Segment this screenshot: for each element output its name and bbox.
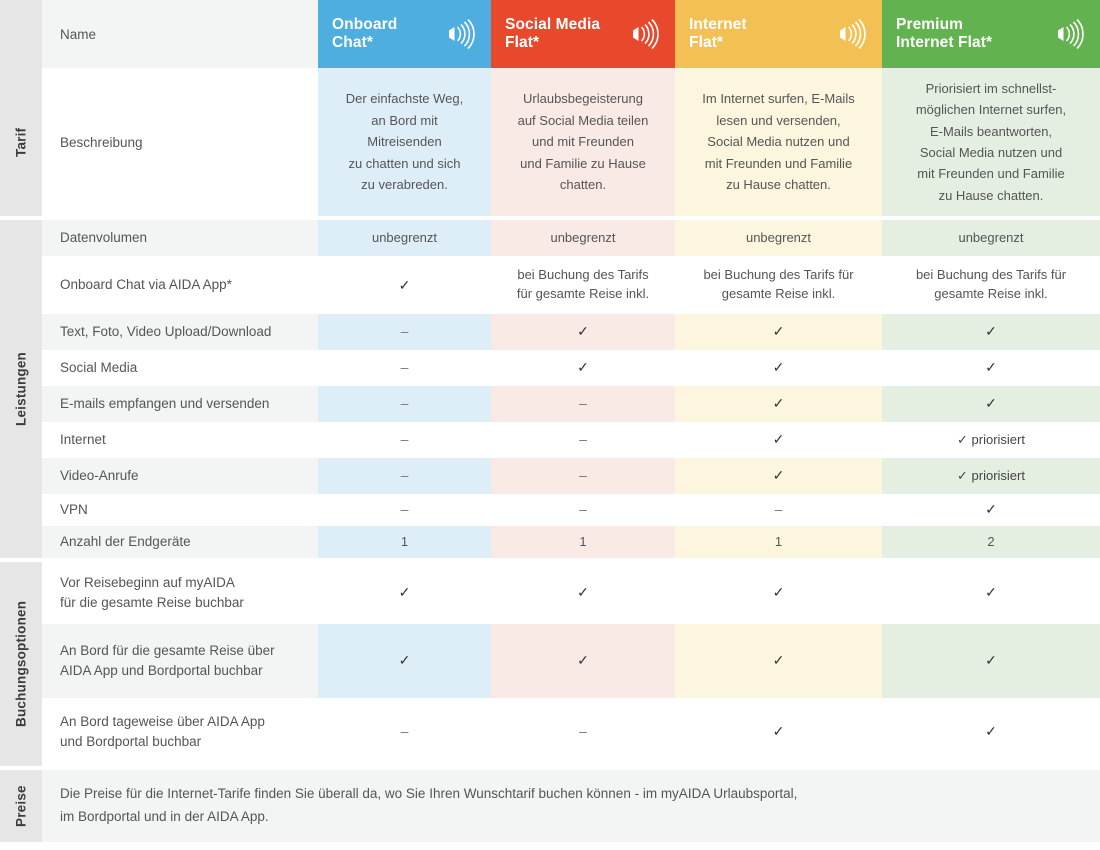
table-row: VPN – – – ✓ [42, 494, 1100, 526]
tariff-header-2[interactable]: Internet Flat* [675, 0, 882, 68]
cell-internet-0: – [318, 422, 491, 458]
cell-vor-reisebeginn-1: ✓ [491, 562, 675, 624]
cell-datenvolumen-0: unbegrenzt [318, 220, 491, 256]
table-row: Anzahl der Endgeräte 1 1 1 2 [42, 526, 1100, 558]
cell-video-anrufe-2: ✓ [675, 458, 882, 494]
buchungsoptionen-section: Buchungsoptionen Vor Reisebeginn auf myA… [0, 562, 1100, 766]
signal-icon [627, 18, 663, 50]
tariff-description-1: Urlaubsbegeisterung auf Social Media tei… [491, 68, 675, 216]
table-row: Text, Foto, Video Upload/Download – ✓ ✓ … [42, 314, 1100, 350]
cell-internet-1: – [491, 422, 675, 458]
cell-social-media-3: ✓ [882, 350, 1100, 386]
cell-onboard-chat-1: bei Buchung des Tarifs für gesamte Reise… [491, 256, 675, 314]
tariff-description-2: Im Internet surfen, E-Mails lesen und ve… [675, 68, 882, 216]
section-label-buchungsoptionen: Buchungsoptionen [0, 562, 42, 766]
cell-an-bord-gesamt-0: ✓ [318, 624, 491, 698]
section-rail-leistungen: Leistungen [0, 220, 42, 558]
table-row: An Bord für die gesamte Reise über AIDA … [42, 624, 1100, 698]
cell-onboard-chat-3: bei Buchung des Tarifs für gesamte Reise… [882, 256, 1100, 314]
leistungen-section: Leistungen Datenvolumen unbegrenzt unbeg… [0, 220, 1100, 558]
tariff-comparison-table: Name Onboard Chat* Social Media Flat* [0, 0, 1100, 850]
section-rail-tarif-label: Tarif [0, 68, 42, 216]
cell-endgeraete-2: 1 [675, 526, 882, 558]
cell-datenvolumen-1: unbegrenzt [491, 220, 675, 256]
section-label-tarif: Tarif [0, 68, 42, 216]
row-label-video-anrufe: Video-Anrufe [42, 458, 318, 494]
cell-internet-3: ✓ priorisiert [882, 422, 1100, 458]
tariff-description-0: Der einfachste Weg, an Bord mit Mitreise… [318, 68, 491, 216]
cell-onboard-chat-0: ✓ [318, 256, 491, 314]
cell-video-anrufe-0: – [318, 458, 491, 494]
section-rail-tarif [0, 0, 42, 68]
cell-upload-0: – [318, 314, 491, 350]
cell-an-bord-tage-0: – [318, 698, 491, 766]
signal-icon [1052, 18, 1088, 50]
tariff-header-1[interactable]: Social Media Flat* [491, 0, 675, 68]
cell-upload-2: ✓ [675, 314, 882, 350]
row-label-vor-reisebeginn: Vor Reisebeginn auf myAIDA für die gesam… [42, 562, 318, 624]
table-row: Onboard Chat via AIDA App* ✓ bei Buchung… [42, 256, 1100, 314]
table-row: Internet – – ✓ ✓ priorisiert [42, 422, 1100, 458]
cell-onboard-chat-2: bei Buchung des Tarifs für gesamte Reise… [675, 256, 882, 314]
table-row: E-mails empfangen und versenden – – ✓ ✓ [42, 386, 1100, 422]
cell-vpn-0: – [318, 494, 491, 526]
cell-emails-1: – [491, 386, 675, 422]
preise-section: Preise Die Preise für die Internet-Tarif… [0, 770, 1100, 842]
cell-an-bord-gesamt-2: ✓ [675, 624, 882, 698]
cell-vor-reisebeginn-3: ✓ [882, 562, 1100, 624]
tariff-header-0[interactable]: Onboard Chat* [318, 0, 491, 68]
tariff-description-3: Priorisiert im schnellst- möglichen Inte… [882, 68, 1100, 216]
cell-emails-0: – [318, 386, 491, 422]
cell-social-media-0: – [318, 350, 491, 386]
cell-endgeraete-0: 1 [318, 526, 491, 558]
row-label-endgeraete: Anzahl der Endgeräte [42, 526, 318, 558]
cell-social-media-2: ✓ [675, 350, 882, 386]
section-label-leistungen: Leistungen [0, 220, 42, 558]
tariff-header-3[interactable]: Premium Internet Flat* [882, 0, 1100, 68]
preise-text: Die Preise für die Internet-Tarife finde… [42, 770, 1100, 842]
cell-vpn-2: – [675, 494, 882, 526]
cell-social-media-1: ✓ [491, 350, 675, 386]
cell-vpn-1: – [491, 494, 675, 526]
cell-video-anrufe-1: – [491, 458, 675, 494]
row-label-upload: Text, Foto, Video Upload/Download [42, 314, 318, 350]
cell-emails-3: ✓ [882, 386, 1100, 422]
cell-an-bord-gesamt-1: ✓ [491, 624, 675, 698]
table-row: Social Media – ✓ ✓ ✓ [42, 350, 1100, 386]
signal-icon [834, 18, 870, 50]
signal-icon [443, 18, 479, 50]
cell-emails-2: ✓ [675, 386, 882, 422]
tariff-title-3: Premium Internet Flat* [896, 16, 992, 53]
cell-an-bord-tage-3: ✓ [882, 698, 1100, 766]
row-label-emails: E-mails empfangen und versenden [42, 386, 318, 422]
cell-internet-2: ✓ [675, 422, 882, 458]
cell-vpn-3: ✓ [882, 494, 1100, 526]
tariff-title-1: Social Media Flat* [505, 16, 600, 53]
table-row: An Bord tageweise über AIDA App und Bord… [42, 698, 1100, 766]
row-label-internet: Internet [42, 422, 318, 458]
table-row: Vor Reisebeginn auf myAIDA für die gesam… [42, 562, 1100, 624]
row-label-an-bord-gesamt: An Bord für die gesamte Reise über AIDA … [42, 624, 318, 698]
cell-an-bord-tage-2: ✓ [675, 698, 882, 766]
cell-upload-3: ✓ [882, 314, 1100, 350]
row-label-an-bord-tage: An Bord tageweise über AIDA App und Bord… [42, 698, 318, 766]
section-label-preise: Preise [0, 770, 42, 842]
row-label-beschreibung: Beschreibung [42, 68, 318, 216]
cell-upload-1: ✓ [491, 314, 675, 350]
cell-datenvolumen-2: unbegrenzt [675, 220, 882, 256]
row-label-onboard-chat: Onboard Chat via AIDA App* [42, 256, 318, 314]
table-row: Datenvolumen unbegrenzt unbegrenzt unbeg… [42, 220, 1100, 256]
header-band: Name Onboard Chat* Social Media Flat* [0, 0, 1100, 68]
cell-datenvolumen-3: unbegrenzt [882, 220, 1100, 256]
tariff-title-0: Onboard Chat* [332, 16, 397, 53]
cell-vor-reisebeginn-0: ✓ [318, 562, 491, 624]
row-label-name: Name [42, 0, 318, 68]
description-band: Tarif Beschreibung Der einfachste Weg, a… [0, 68, 1100, 216]
cell-an-bord-tage-1: – [491, 698, 675, 766]
cell-vor-reisebeginn-2: ✓ [675, 562, 882, 624]
cell-endgeraete-1: 1 [491, 526, 675, 558]
table-row: Video-Anrufe – – ✓ ✓ priorisiert [42, 458, 1100, 494]
cell-endgeraete-3: 2 [882, 526, 1100, 558]
row-label-vpn: VPN [42, 494, 318, 526]
row-label-datenvolumen: Datenvolumen [42, 220, 318, 256]
row-label-social-media: Social Media [42, 350, 318, 386]
tariff-title-2: Internet Flat* [689, 16, 747, 53]
section-rail-preise: Preise [0, 770, 42, 842]
section-rail-buchungsoptionen: Buchungsoptionen [0, 562, 42, 766]
cell-an-bord-gesamt-3: ✓ [882, 624, 1100, 698]
cell-video-anrufe-3: ✓ priorisiert [882, 458, 1100, 494]
